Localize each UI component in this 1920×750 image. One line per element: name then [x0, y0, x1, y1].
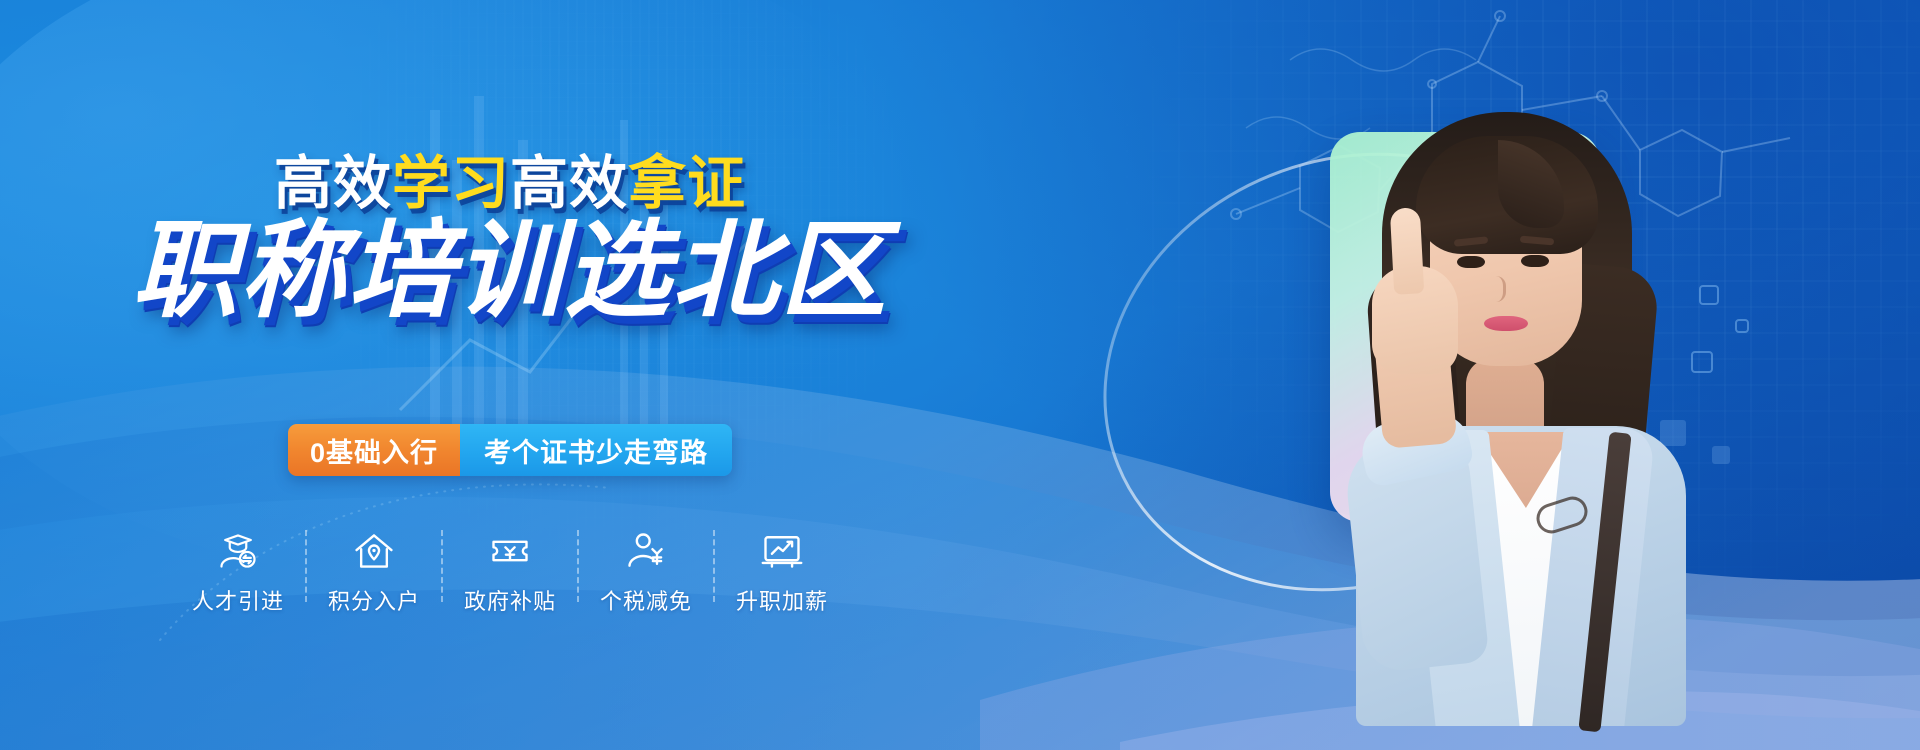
sub-headline: 高效学习高效拿证: [0, 155, 1020, 213]
tagline-badge: 0基础入行 考个证书少走弯路: [288, 424, 732, 476]
person-yuan-icon: [623, 528, 669, 574]
sub-headline-seg-1: 高效: [274, 151, 392, 216]
badge-right-label: 考个证书少走弯路: [460, 424, 732, 476]
badge-left-label: 0基础入行: [288, 424, 460, 476]
house-location-icon: [351, 528, 397, 574]
presenter-photo: [1270, 96, 1740, 656]
copy-block: 高效学习高效拿证 职称培训选北区 0基础入行 考个证书少走弯路: [0, 0, 1160, 750]
feature-label: 政府补贴: [464, 584, 556, 616]
feature-label: 人才引进: [192, 584, 284, 616]
sub-headline-seg-3: 高效: [510, 151, 628, 216]
feature-label: 个税减免: [600, 584, 692, 616]
gradient-card-backdrop: [1330, 132, 1600, 522]
feature-label: 积分入户: [328, 584, 420, 616]
feature-label: 升职加薪: [736, 584, 828, 616]
growth-chart-icon: [759, 528, 805, 574]
graduate-person-icon: [215, 528, 261, 574]
promo-banner: 高效学习高效拿证 职称培训选北区 0基础入行 考个证书少走弯路: [0, 0, 1920, 750]
feature-item-talent-introduction[interactable]: 人才引进: [171, 528, 305, 616]
feature-item-tax-reduction[interactable]: 个税减免: [579, 528, 713, 616]
feature-row: 人才引进 积分入户: [0, 528, 1020, 616]
coupon-yuan-icon: [487, 528, 533, 574]
feature-item-promotion-raise[interactable]: 升职加薪: [715, 528, 849, 616]
main-headline: 职称培训选北区: [0, 218, 1020, 324]
sub-headline-seg-2: 学习: [392, 151, 510, 216]
sub-headline-seg-4: 拿证: [628, 151, 746, 216]
tagline-badge-row: 0基础入行 考个证书少走弯路: [0, 424, 1020, 476]
background-grid-texture: [1100, 0, 1920, 620]
feature-item-government-subsidy[interactable]: 政府补贴: [443, 528, 577, 616]
feature-item-points-residency[interactable]: 积分入户: [307, 528, 441, 616]
